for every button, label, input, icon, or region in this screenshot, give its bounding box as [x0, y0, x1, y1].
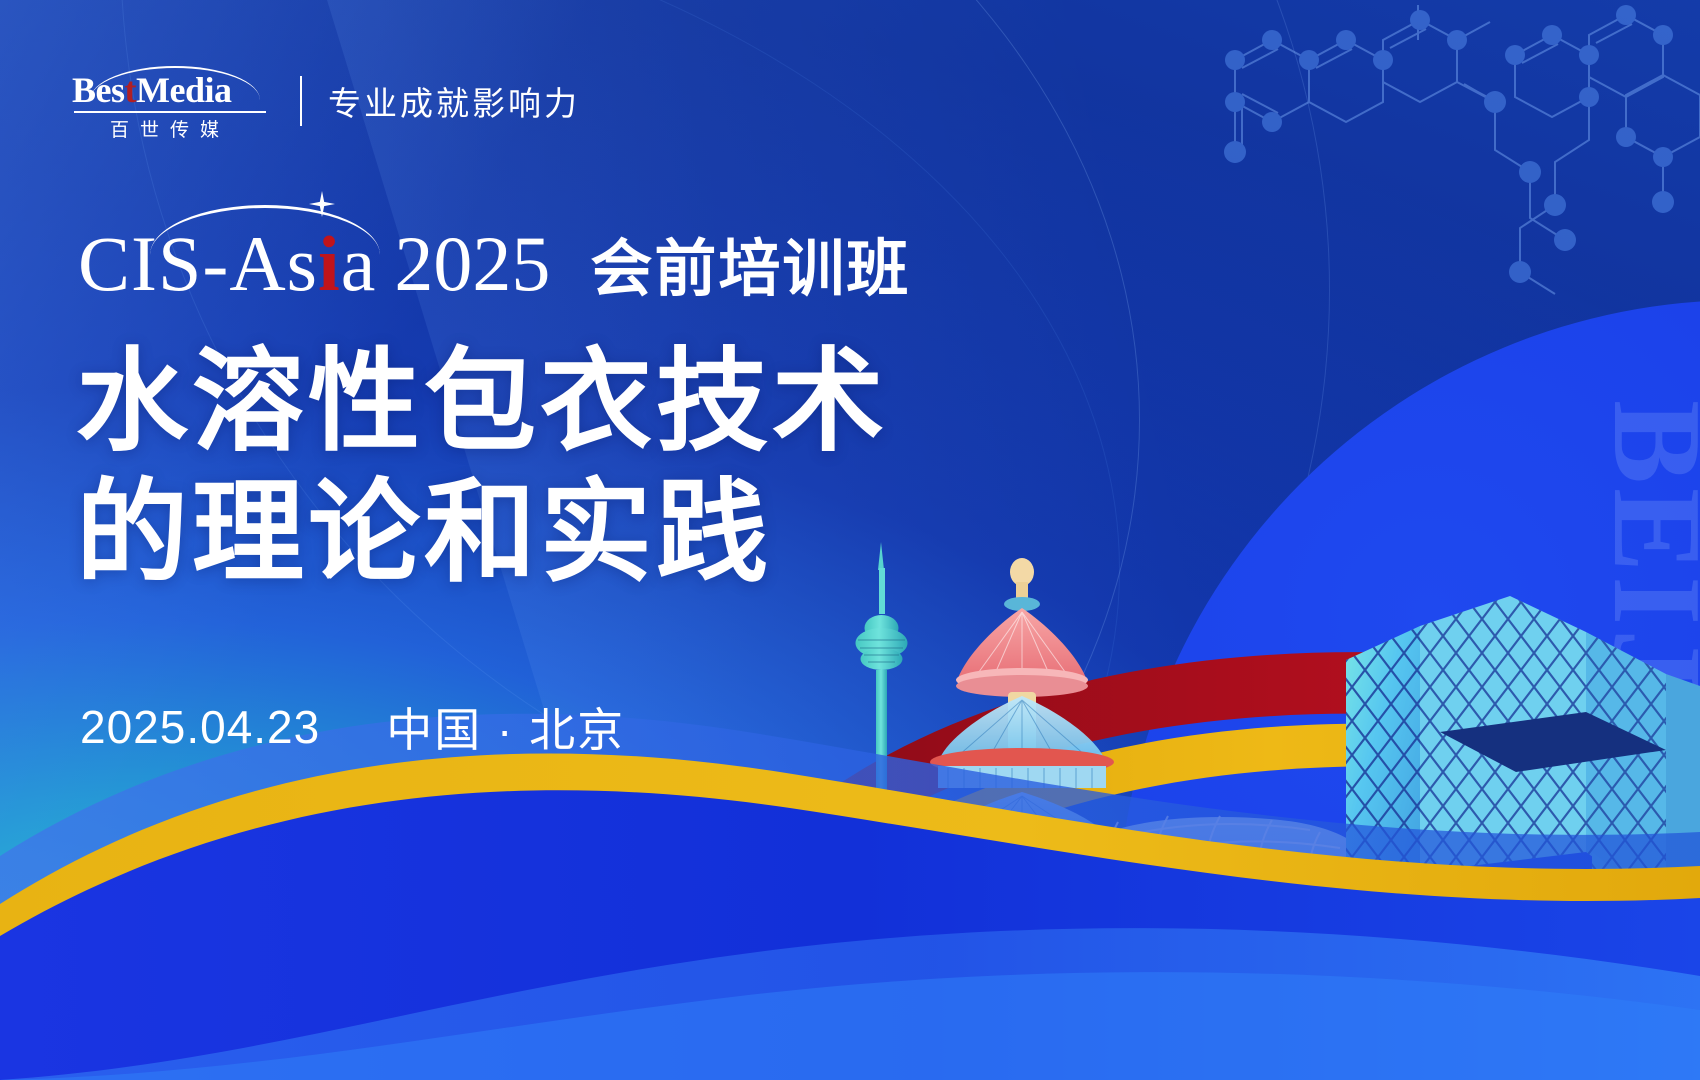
accent-letter-i: i	[318, 225, 341, 303]
logo-en-accent-t: t	[125, 70, 137, 110]
event-series-name: CIS-Asia	[78, 225, 376, 303]
headline-line-2: 的理论和实践	[76, 469, 888, 600]
logo-divider-rule	[74, 111, 266, 113]
event-meta: 2025.04.23 中国 · 北京	[80, 694, 625, 760]
event-headline: 水溶性包衣技术 的理论和实践	[76, 338, 888, 600]
event-year: 2025	[394, 225, 550, 303]
logo-vertical-divider	[300, 76, 302, 126]
sparkle-icon	[309, 191, 335, 217]
event-title-row: CIS-Asia 2025 会前培训班	[78, 225, 910, 303]
headline-line-1: 水溶性包衣技术	[76, 338, 888, 469]
event-date: 2025.04.23	[80, 700, 320, 754]
brand-logo: BestMedia 百世传媒 专业成就影响力	[72, 62, 580, 140]
event-subtitle: 会前培训班	[590, 239, 910, 301]
logo-mark: BestMedia 百世传媒	[72, 62, 268, 140]
poster-canvas: BEIJING	[0, 0, 1700, 1080]
brand-tagline: 专业成就影响力	[328, 77, 580, 125]
logo-en-part2: Media	[136, 70, 231, 110]
logo-chinese-text: 百世传媒	[74, 115, 266, 142]
logo-english-text: BestMedia	[72, 72, 268, 108]
event-location: 中国 · 北京	[386, 694, 625, 760]
logo-en-part1: Bes	[72, 70, 125, 110]
